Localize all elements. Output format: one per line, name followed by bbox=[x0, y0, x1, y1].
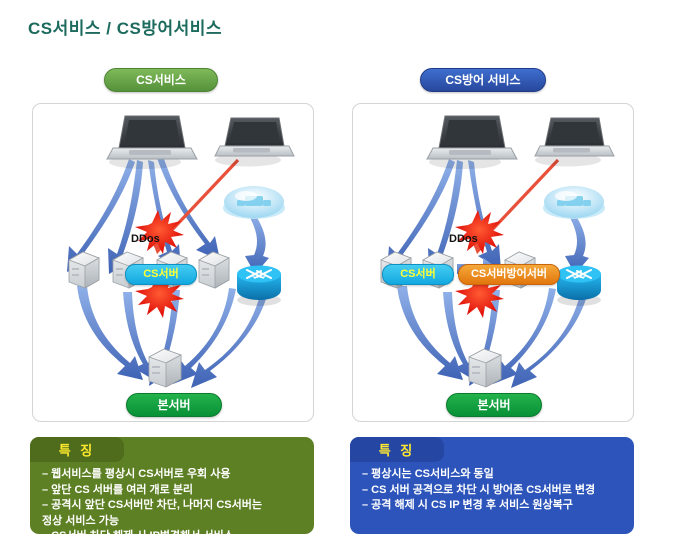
list-item: – 공격 해제 시 CS IP 변경 후 서비스 원상복구 bbox=[362, 498, 626, 514]
diagram-svg-cs-defense-service bbox=[353, 104, 633, 421]
diagram-svg-cs-service bbox=[33, 104, 313, 421]
client-laptop-icon bbox=[215, 118, 294, 167]
list-item: – CS서버 차단 해제 시 IP변경해서 서비스 bbox=[42, 529, 306, 545]
column-header-cs-defense-service: CS방어 서비스 bbox=[420, 68, 546, 92]
ddos-label: DDos bbox=[449, 230, 478, 249]
router-icon bbox=[237, 266, 281, 307]
column-header-cs-service: CS서비스 bbox=[104, 68, 218, 92]
list-item: – CS 서버 공격으로 차단 시 방어존 CS서버로 변경 bbox=[362, 483, 626, 499]
feature-box-cs-defense-service: 특 징 – 평상시는 CS서비스와 동일 – CS 서버 공격으로 차단 시 방… bbox=[350, 437, 634, 534]
client-laptop-icon bbox=[535, 118, 614, 167]
cloud-to-router-arrow bbox=[565, 214, 589, 274]
feature-box-cs-service: 특 징 – 웹서비스를 평상시 CS서버로 우회 사용 – 앞단 CS 서버를 … bbox=[30, 437, 314, 534]
list-item: – 공격시 앞단 CS서버만 차단, 나머지 CS서버는 정상 서비스 가능 bbox=[42, 498, 306, 529]
page-root: CS서비스 / CS방어서비스 CS서비스 bbox=[0, 0, 680, 555]
diagram-panel-cs-service: DDos CS서버 본서버 bbox=[32, 103, 314, 422]
cloud-icon bbox=[543, 186, 605, 219]
list-item: – 웹서비스를 평상시 CS서버로 우회 사용 bbox=[42, 467, 306, 483]
feature-tab-label: 특 징 bbox=[30, 440, 124, 459]
defense-server-badge: CS서버방어서버 bbox=[458, 264, 560, 285]
ddos-label: DDos bbox=[131, 230, 160, 249]
cs-server-badge: CS서버 bbox=[125, 264, 197, 285]
cloud-icon bbox=[223, 186, 285, 219]
main-server-badge: 본서버 bbox=[446, 393, 542, 417]
list-item: – 앞단 CS 서버를 여러 개로 분리 bbox=[42, 483, 306, 499]
main-server-icon bbox=[469, 349, 501, 387]
attacker-laptop-icon bbox=[427, 116, 517, 169]
cloud-to-router-arrow bbox=[245, 214, 269, 274]
diagram-panel-cs-defense-service: DDos CS서버 CS서버방어서버 본서버 bbox=[352, 103, 634, 422]
page-title: CS서비스 / CS방어서비스 bbox=[28, 14, 222, 39]
cs-server-badge: CS서버 bbox=[382, 264, 454, 285]
main-server-icon bbox=[149, 349, 181, 387]
attacker-laptop-icon bbox=[107, 116, 197, 169]
router-icon bbox=[557, 266, 601, 307]
feature-tab-label: 특 징 bbox=[350, 440, 444, 459]
main-server-badge: 본서버 bbox=[126, 393, 222, 417]
feature-list: – 평상시는 CS서비스와 동일 – CS 서버 공격으로 차단 시 방어존 C… bbox=[362, 467, 626, 514]
feature-list: – 웹서비스를 평상시 CS서버로 우회 사용 – 앞단 CS 서버를 여러 개… bbox=[42, 467, 306, 545]
list-item: – 평상시는 CS서비스와 동일 bbox=[362, 467, 626, 483]
